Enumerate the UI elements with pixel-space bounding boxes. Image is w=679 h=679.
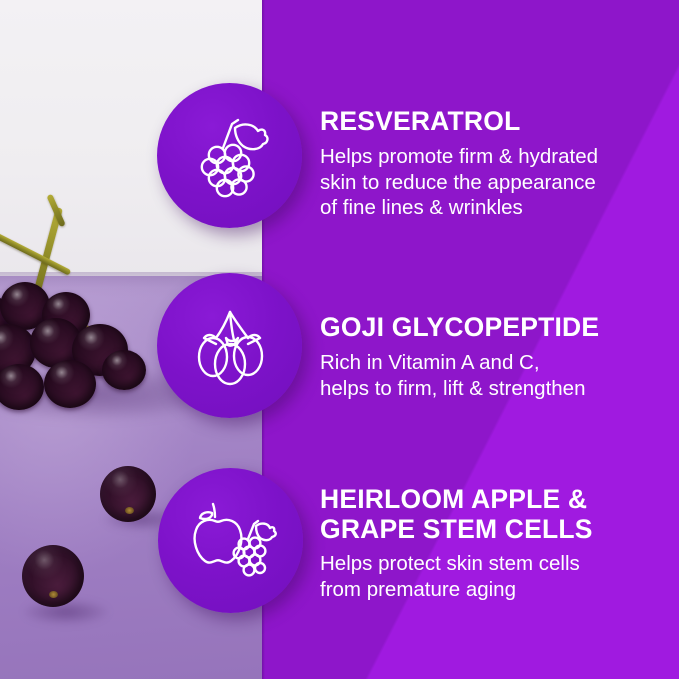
- benefit-copy-goji: GOJI GLYCOPEPTIDE Rich in Vitamin A and …: [320, 313, 665, 401]
- grape-stem-branch-left: [0, 229, 71, 276]
- benefit-headline: GOJI GLYCOPEPTIDE: [320, 313, 665, 343]
- goji-berries-icon: [182, 298, 278, 394]
- grape-cluster-icon: [182, 108, 278, 204]
- photo-berry: [0, 364, 44, 410]
- benefit-body: Helps promote firm & hydrated skin to re…: [320, 144, 665, 221]
- apple-and-grape-icon: [181, 491, 281, 591]
- loose-berry-lower: [22, 545, 84, 607]
- benefit-icon-badge-goji[interactable]: [157, 273, 302, 418]
- benefit-copy-stem-cells: HEIRLOOM APPLE & GRAPE STEM CELLS Helps …: [320, 485, 665, 603]
- photo-berry: [102, 350, 146, 390]
- benefit-headline: HEIRLOOM APPLE & GRAPE STEM CELLS: [320, 485, 665, 544]
- infographic-canvas: RESVERATROL Helps promote firm & hydrate…: [0, 0, 679, 679]
- benefit-headline: RESVERATROL: [320, 107, 665, 137]
- benefit-body: Rich in Vitamin A and C, helps to firm, …: [320, 350, 665, 402]
- benefit-body: Helps protect skin stem cells from prema…: [320, 551, 665, 603]
- photo-berry: [44, 360, 96, 408]
- benefit-icon-badge-resveratrol[interactable]: [157, 83, 302, 228]
- benefit-icon-badge-stem-cells[interactable]: [158, 468, 303, 613]
- loose-berry-upper: [100, 466, 156, 522]
- benefit-copy-resveratrol: RESVERATROL Helps promote firm & hydrate…: [320, 107, 665, 221]
